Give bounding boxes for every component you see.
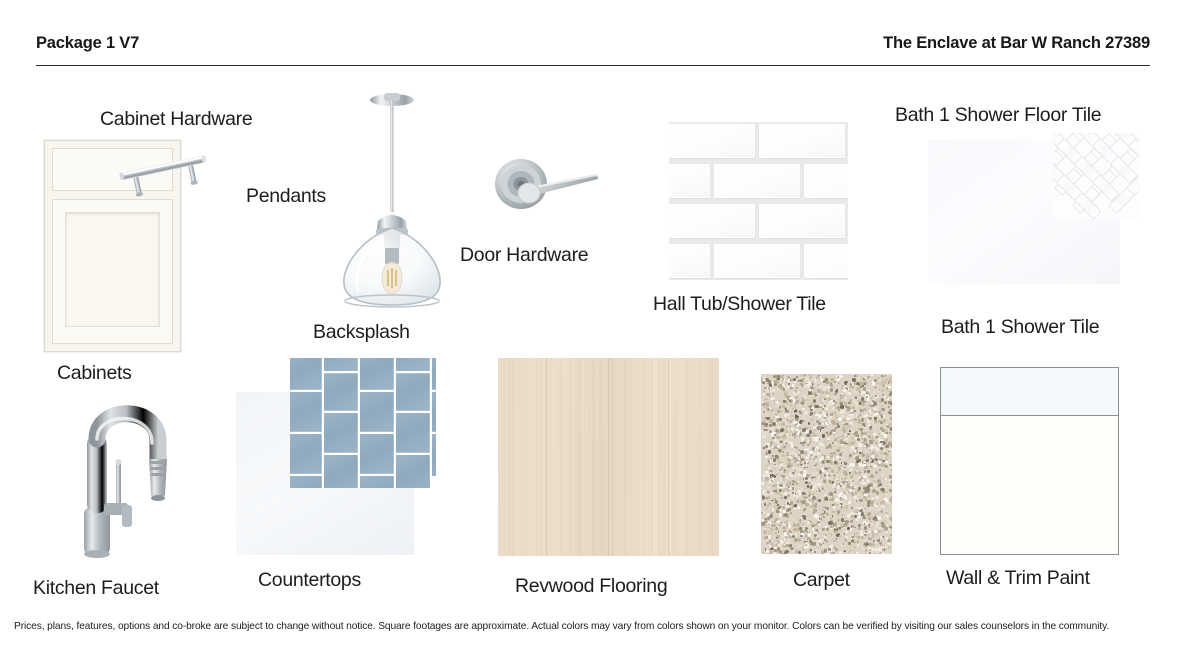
header-divider (36, 65, 1150, 66)
label-revwood-flooring: Revwood Flooring (515, 575, 667, 598)
disclaimer-text: Prices, plans, features, options and co-… (14, 620, 1162, 634)
label-cabinets: Cabinets (57, 362, 132, 385)
design-package-board: Package 1 V7 The Enclave at Bar W Ranch … (0, 0, 1182, 665)
package-title: Package 1 V7 (36, 34, 139, 53)
label-pendants: Pendants (246, 185, 326, 208)
cabinet-door-frame (52, 199, 173, 344)
pulldown-faucet-icon (66, 395, 178, 560)
label-wall-trim-paint: Wall & Trim Paint (946, 567, 1090, 590)
herringbone-mosaic-swatch (1053, 133, 1139, 219)
paint-band-wall (941, 368, 1118, 416)
wood-plank-swatch (498, 358, 719, 556)
door-lever-icon (485, 150, 605, 230)
arabesque-tile-swatch (290, 358, 436, 488)
paint-swatch (940, 367, 1119, 555)
cabinet-recessed-panel (65, 212, 160, 327)
label-carpet: Carpet (793, 569, 850, 592)
carpet-texture-swatch (761, 374, 892, 554)
board-header: Package 1 V7 The Enclave at Bar W Ranch … (0, 0, 1182, 68)
label-door-hardware: Door Hardware (460, 244, 588, 267)
label-backsplash: Backsplash (313, 321, 410, 344)
community-title: The Enclave at Bar W Ranch 27389 (883, 34, 1150, 53)
label-hall-tub-shower-tile: Hall Tub/Shower Tile (653, 293, 826, 316)
subway-tile-swatch (669, 122, 848, 280)
paint-band-trim (941, 418, 1118, 555)
cabinet-bar-pull-icon (113, 138, 213, 208)
label-bath1-shower-tile: Bath 1 Shower Tile (941, 316, 1099, 339)
label-countertops: Countertops (258, 569, 361, 592)
label-bath1-shower-floor-tile: Bath 1 Shower Floor Tile (895, 104, 1101, 127)
pendant-light-icon (332, 88, 452, 308)
label-cabinet-hardware: Cabinet Hardware (100, 108, 252, 131)
label-kitchen-faucet: Kitchen Faucet (33, 577, 159, 600)
